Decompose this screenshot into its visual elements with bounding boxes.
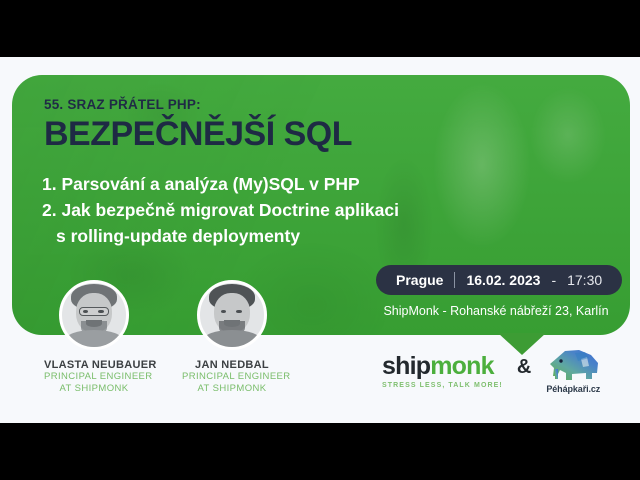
letterbox-bottom-bar: [0, 423, 640, 480]
topic-list: 1. Parsování a analýza (My)SQL v PHP 2. …: [42, 172, 399, 250]
badge-divider: [454, 272, 455, 288]
avatar: [59, 280, 129, 350]
pehapkari-name: Péhápkaři.cz: [545, 384, 601, 394]
speaker-name: JAN NEDBAL: [182, 359, 282, 371]
shipmonk-wordmark-part-1: ship: [382, 352, 430, 380]
topic-item-2: 2. Jak bezpečně migrovat Doctrine aplika…: [42, 198, 399, 224]
event-time-label: 17:30: [567, 272, 602, 288]
pehapkari-logo: Péhápkaři.cz: [545, 349, 601, 394]
event-venue-label: ShipMonk - Rohanské nábřeží 23, Karlín: [376, 304, 616, 318]
date-badge: Prague 16.02. 2023 - 17:30: [376, 265, 622, 295]
page-title: BEZPEČNĚJŠÍ SQL: [44, 116, 352, 152]
speaker-role-line-2: AT SHIPMONK: [44, 383, 144, 395]
portrait-illustration: [200, 283, 264, 347]
shipmonk-logo: shipmonk STRESS LESS, TALK MORE!: [382, 354, 503, 389]
video-player-frame: 55. SRAZ PŘÁTEL PHP: BEZPEČNĚJŠÍ SQL 1. …: [0, 0, 640, 480]
speaker-role-line-1: PRINCIPAL ENGINEER: [44, 371, 144, 383]
topic-item-1: 1. Parsování a analýza (My)SQL v PHP: [42, 172, 399, 198]
event-eyebrow-label: 55. SRAZ PŘÁTEL PHP:: [44, 97, 352, 113]
event-info-block: Prague 16.02. 2023 - 17:30 ShipMonk - Ro…: [376, 265, 616, 318]
speaker-card-vlasta-neubauer: VLASTA NEUBAUER PRINCIPAL ENGINEER AT SH…: [44, 280, 144, 395]
sponsor-logo-bar: shipmonk STRESS LESS, TALK MORE! &: [382, 349, 601, 394]
portrait-illustration: [62, 283, 126, 347]
shipmonk-tagline: STRESS LESS, TALK MORE!: [382, 382, 503, 389]
speaker-name: VLASTA NEUBAUER: [44, 359, 144, 371]
headline-block: 55. SRAZ PŘÁTEL PHP: BEZPEČNĚJŠÍ SQL: [44, 97, 352, 152]
topic-item-2-continuation: s rolling-update deploymenty: [42, 224, 399, 250]
avatar: [197, 280, 267, 350]
ampersand-separator: &: [517, 356, 531, 387]
speaker-role-line-2: AT SHIPMONK: [182, 383, 282, 395]
speaker-card-jan-nedbal: JAN NEDBAL PRINCIPAL ENGINEER AT SHIPMON…: [182, 280, 282, 395]
presentation-slide: 55. SRAZ PŘÁTEL PHP: BEZPEČNĚJŠÍ SQL 1. …: [0, 57, 640, 423]
shipmonk-wordmark: shipmonk: [382, 354, 503, 379]
event-date-label: 16.02. 2023: [466, 272, 540, 288]
letterbox-top-bar: [0, 0, 640, 57]
event-city-label: Prague: [396, 272, 443, 288]
event-time-separator: -: [551, 272, 556, 288]
shipmonk-wordmark-part-2: monk: [430, 352, 493, 380]
speaker-list: VLASTA NEUBAUER PRINCIPAL ENGINEER AT SH…: [44, 280, 282, 395]
speaker-role-line-1: PRINCIPAL ENGINEER: [182, 371, 282, 383]
elephant-icon: [545, 349, 601, 383]
